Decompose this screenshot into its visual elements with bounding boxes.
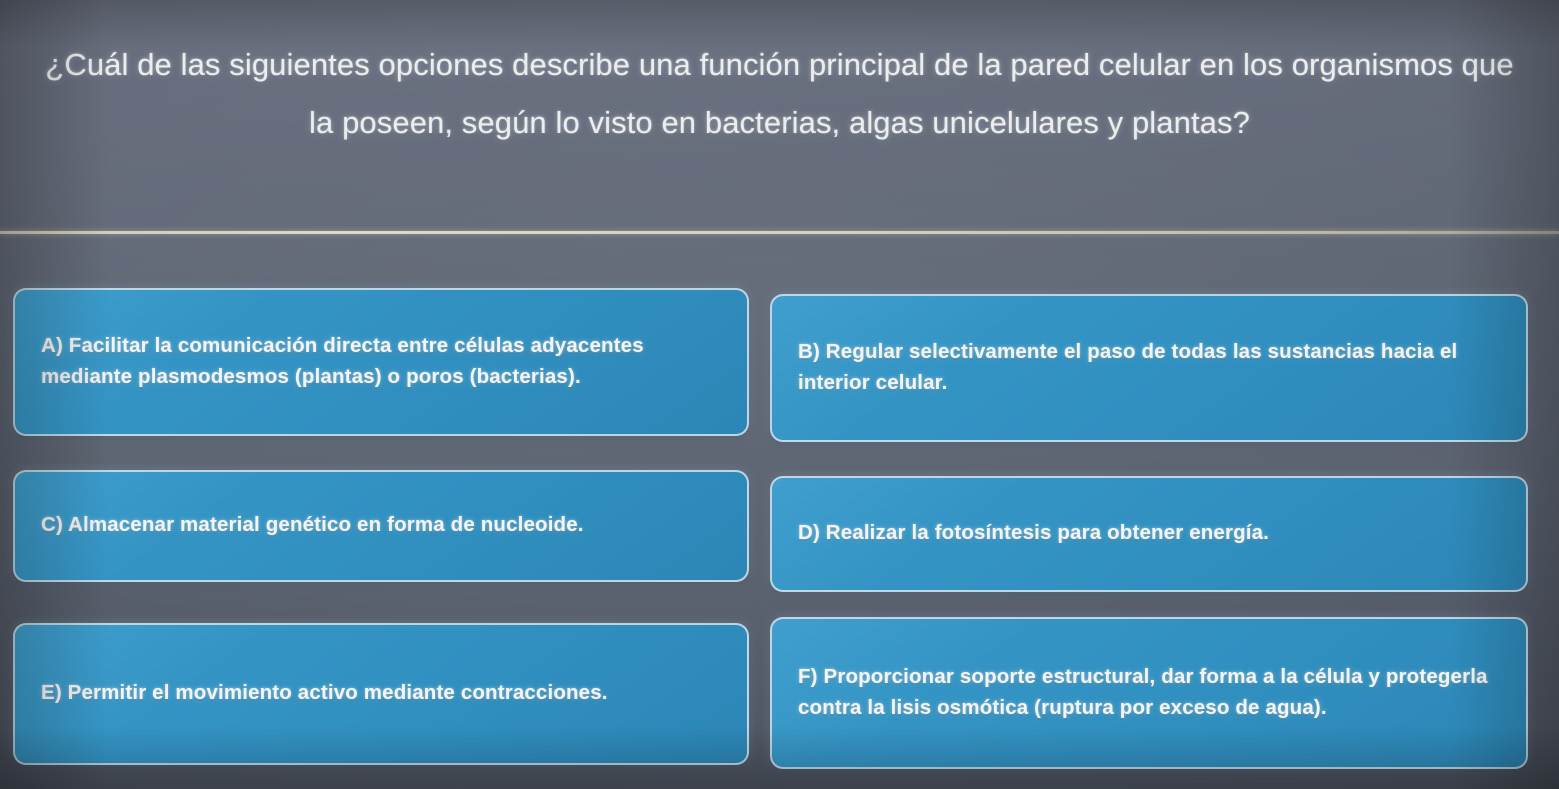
option-e-button[interactable]: E) Permitir el movimiento activo mediant… [13,623,749,765]
option-e-label: E) Permitir el movimiento activo mediant… [41,677,608,708]
option-a-label: A) Facilitar la comunicación directa ent… [41,330,725,393]
option-d-button[interactable]: D) Realizar la fotosíntesis para obtener… [770,476,1528,592]
option-c-button[interactable]: C) Almacenar material genético en forma … [13,470,749,582]
option-f-label: F) Proporcionar soporte estructural, dar… [798,661,1504,724]
option-b-label: B) Regular selectivamente el paso de tod… [798,336,1504,399]
question-block: ¿Cuál de las siguientes opciones describ… [0,0,1559,231]
section-divider [0,231,1559,234]
option-c-label: C) Almacenar material genético en forma … [41,509,584,540]
option-d-label: D) Realizar la fotosíntesis para obtener… [798,517,1269,548]
options-grid: A) Facilitar la comunicación directa ent… [0,236,1559,789]
option-f-button[interactable]: F) Proporcionar soporte estructural, dar… [770,617,1528,769]
option-a-button[interactable]: A) Facilitar la comunicación directa ent… [13,288,749,436]
option-b-button[interactable]: B) Regular selectivamente el paso de tod… [770,294,1528,442]
question-text: ¿Cuál de las siguientes opciones describ… [34,36,1525,153]
